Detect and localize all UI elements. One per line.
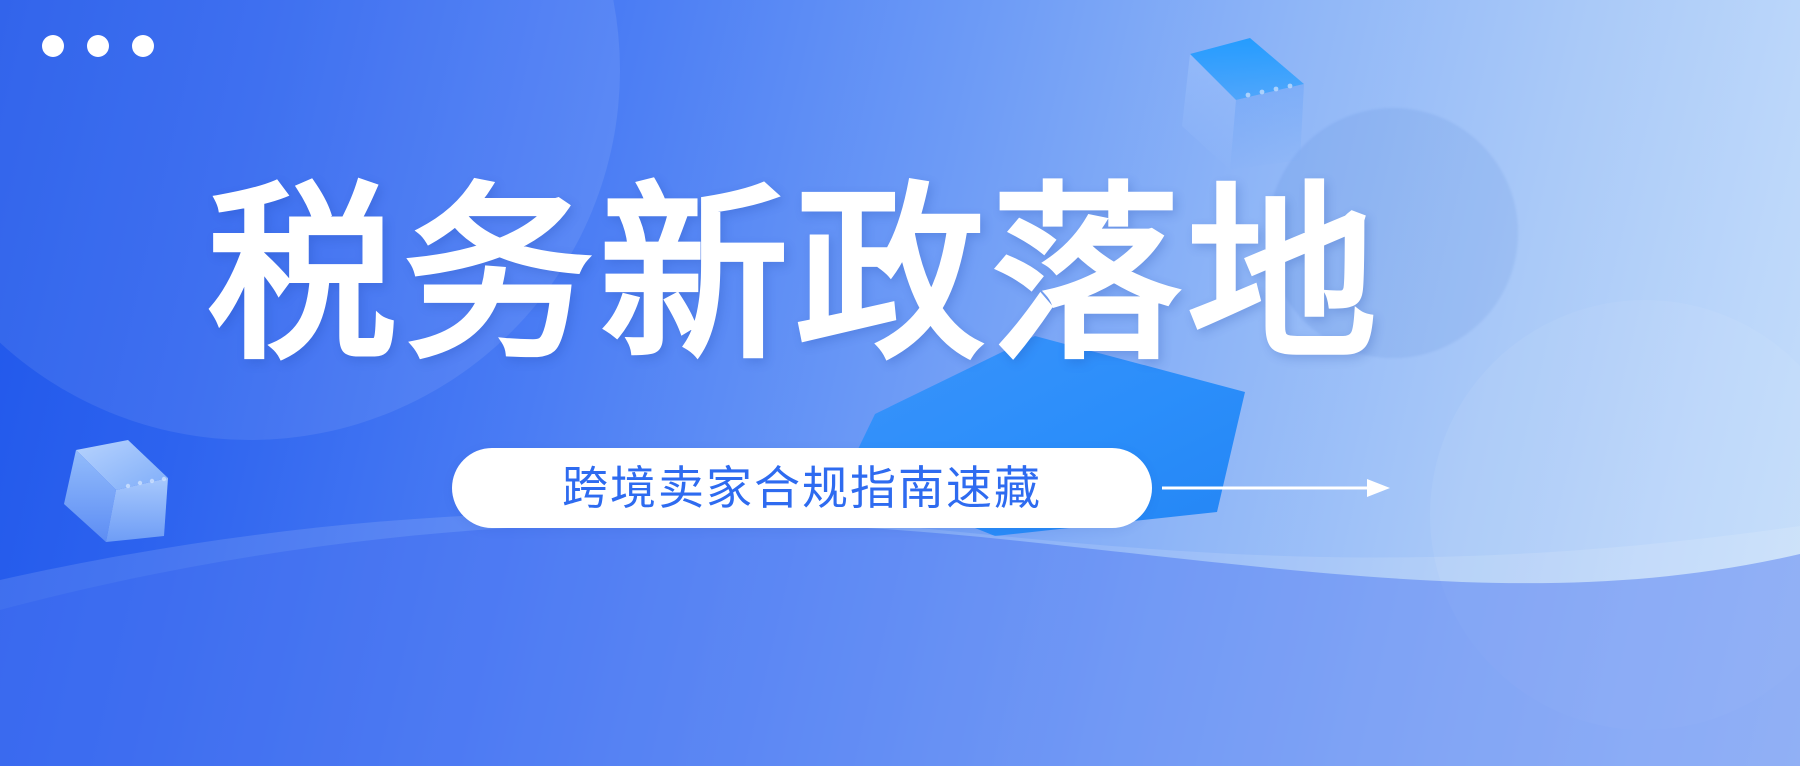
window-dot-icon (42, 35, 64, 57)
cube-icon (1152, 22, 1332, 192)
window-dots (42, 35, 154, 57)
subtitle-row: 跨境卖家合规指南速藏 (452, 448, 1392, 528)
window-dot-icon (132, 35, 154, 57)
subtitle-text: 跨境卖家合规指南速藏 (562, 463, 1042, 513)
page-title: 税务新政落地 (0, 176, 1800, 376)
arrow-right-icon (1162, 471, 1392, 505)
window-dot-icon (87, 35, 109, 57)
promo-banner: 税务新政落地 跨境卖家合规指南速藏 (0, 0, 1800, 766)
cube-icon (38, 420, 188, 560)
subtitle-pill[interactable]: 跨境卖家合规指南速藏 (452, 448, 1152, 528)
